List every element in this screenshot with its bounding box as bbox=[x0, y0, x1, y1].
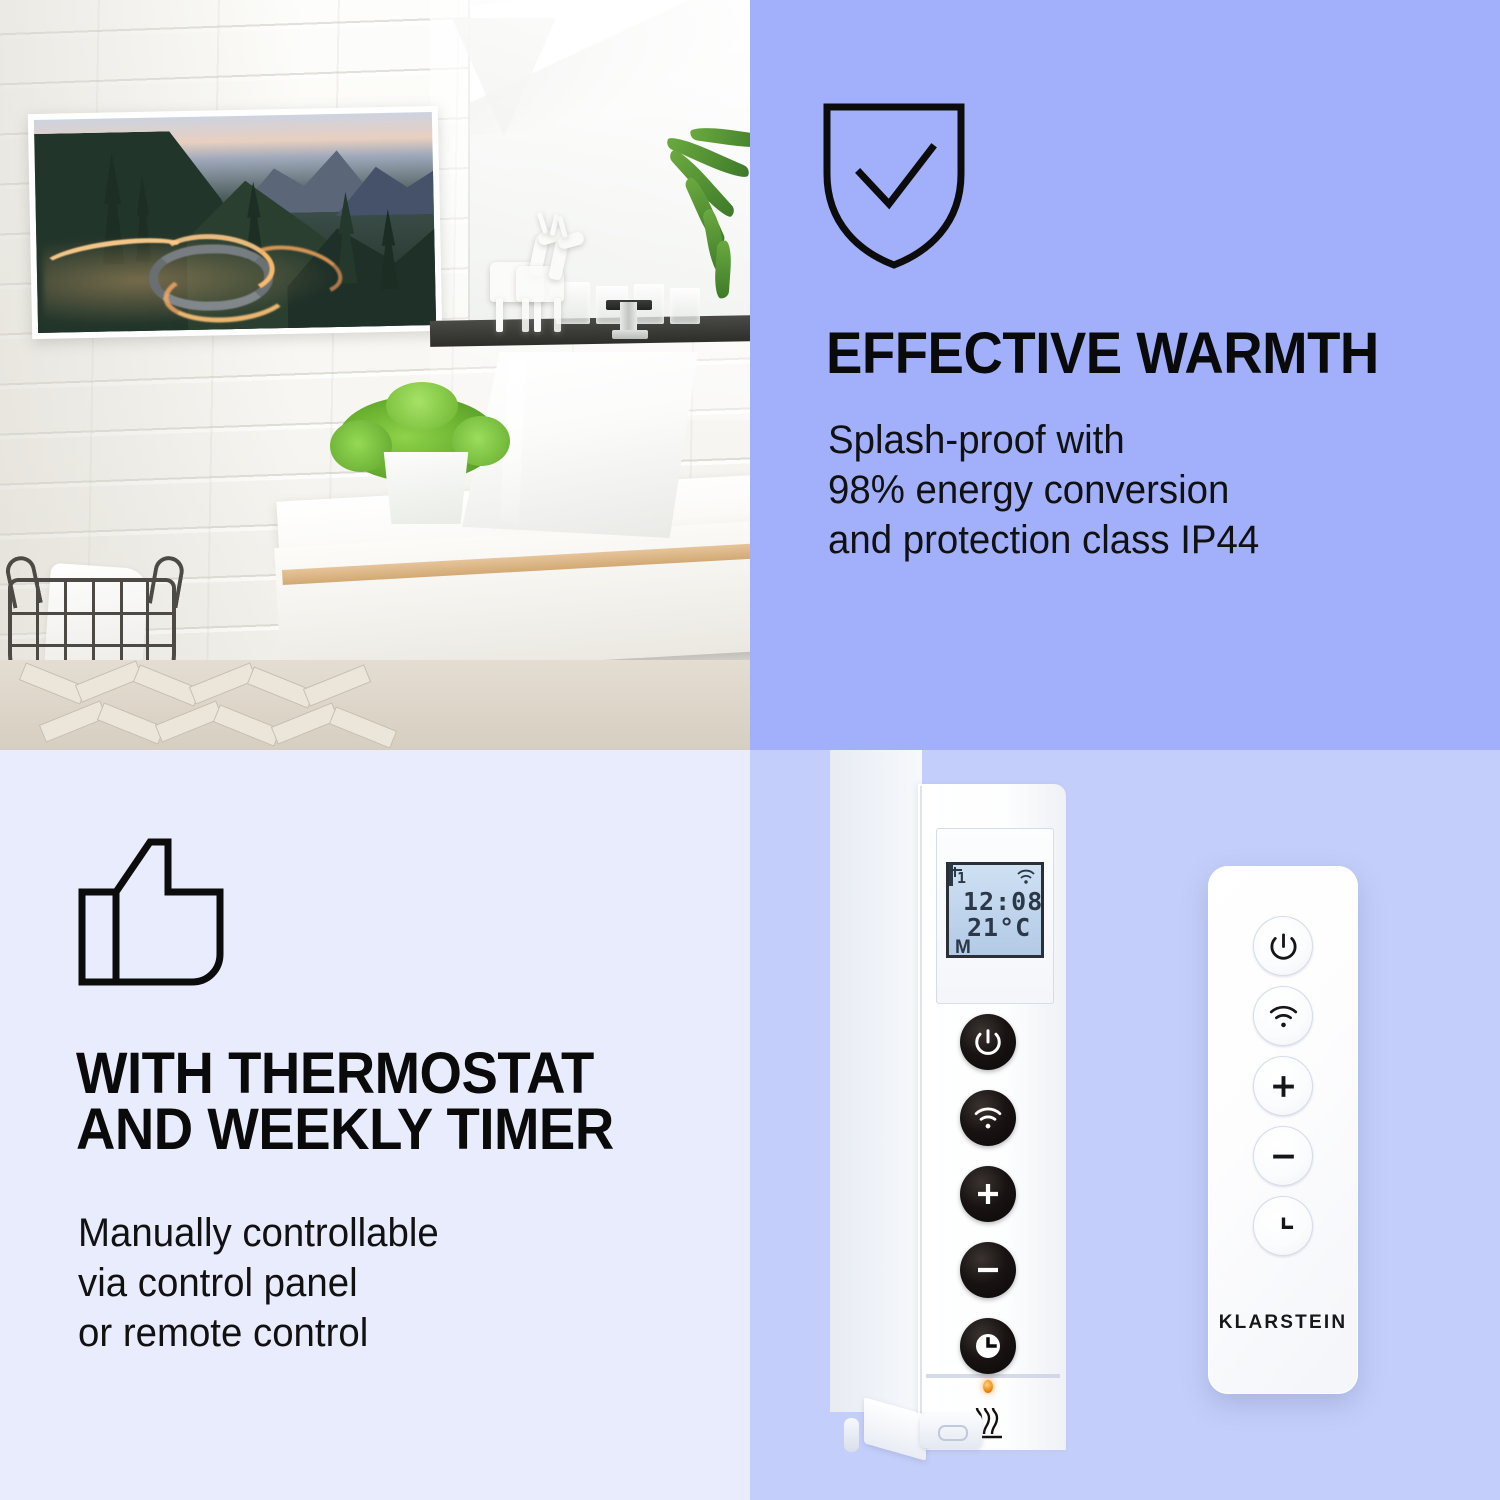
heater-rear-face bbox=[830, 750, 922, 1412]
thermostat-title: WITH THERMOSTAT AND WEEKLY TIMER bbox=[76, 1046, 696, 1158]
bracket-clip bbox=[920, 1414, 982, 1448]
calendar-icon bbox=[949, 863, 953, 886]
warmth-body: Splash-proof with 98% energy conversion … bbox=[828, 415, 1462, 565]
heater-decrease-button[interactable] bbox=[960, 1242, 1016, 1298]
infrared-panel-heater bbox=[28, 106, 442, 339]
product-feature-collage: EFFECTIVE WARMTH Splash-proof with 98% e… bbox=[0, 0, 1500, 1500]
lcd-mode: M bbox=[955, 937, 972, 959]
plant-pot bbox=[378, 452, 474, 524]
faucet-base bbox=[612, 330, 648, 339]
warmth-title: EFFECTIVE WARMTH bbox=[826, 326, 1465, 382]
mountain-road-artwork bbox=[34, 112, 436, 333]
heater-edge-line bbox=[926, 1374, 1060, 1378]
heater-timer-button[interactable] bbox=[960, 1318, 1016, 1374]
herringbone-floor bbox=[0, 660, 750, 750]
heater-power-button[interactable] bbox=[960, 1014, 1016, 1070]
remote-wifi-button[interactable] bbox=[1253, 986, 1313, 1046]
remote-decrease-button[interactable] bbox=[1253, 1126, 1313, 1186]
wifi-icon bbox=[1016, 869, 1036, 889]
shield-check-icon bbox=[820, 100, 968, 277]
bracket-plate bbox=[864, 1397, 926, 1461]
lcd-time: 12:08 bbox=[963, 887, 1043, 916]
thumbs-up-icon bbox=[72, 836, 242, 993]
lcd-temperature: 21°C bbox=[967, 913, 1031, 942]
remote-increase-button[interactable] bbox=[1253, 1056, 1313, 1116]
heater-wifi-button[interactable] bbox=[960, 1090, 1016, 1146]
remote-power-button[interactable] bbox=[1253, 916, 1313, 976]
device-controls-panel: 1 12:08 21°C M bbox=[750, 750, 1500, 1500]
lcd-display: 1 12:08 21°C M bbox=[946, 862, 1044, 958]
lcd-day-indicator: 1 bbox=[957, 869, 967, 887]
heating-indicator-led bbox=[983, 1380, 993, 1393]
remote-timer-button[interactable] bbox=[1253, 1196, 1313, 1256]
bathroom-photo bbox=[0, 0, 750, 750]
thermostat-body: Manually controllable via control panel … bbox=[78, 1208, 673, 1358]
wall-mount-bracket bbox=[842, 1400, 974, 1456]
heater-seam bbox=[920, 786, 922, 1446]
remote-brand-label: KLARSTEIN bbox=[1208, 1312, 1358, 1334]
remote-control: KLARSTEIN bbox=[1208, 866, 1358, 1394]
glass-jar bbox=[670, 288, 700, 324]
bracket-screw bbox=[844, 1418, 859, 1452]
heater-increase-button[interactable] bbox=[960, 1166, 1016, 1222]
